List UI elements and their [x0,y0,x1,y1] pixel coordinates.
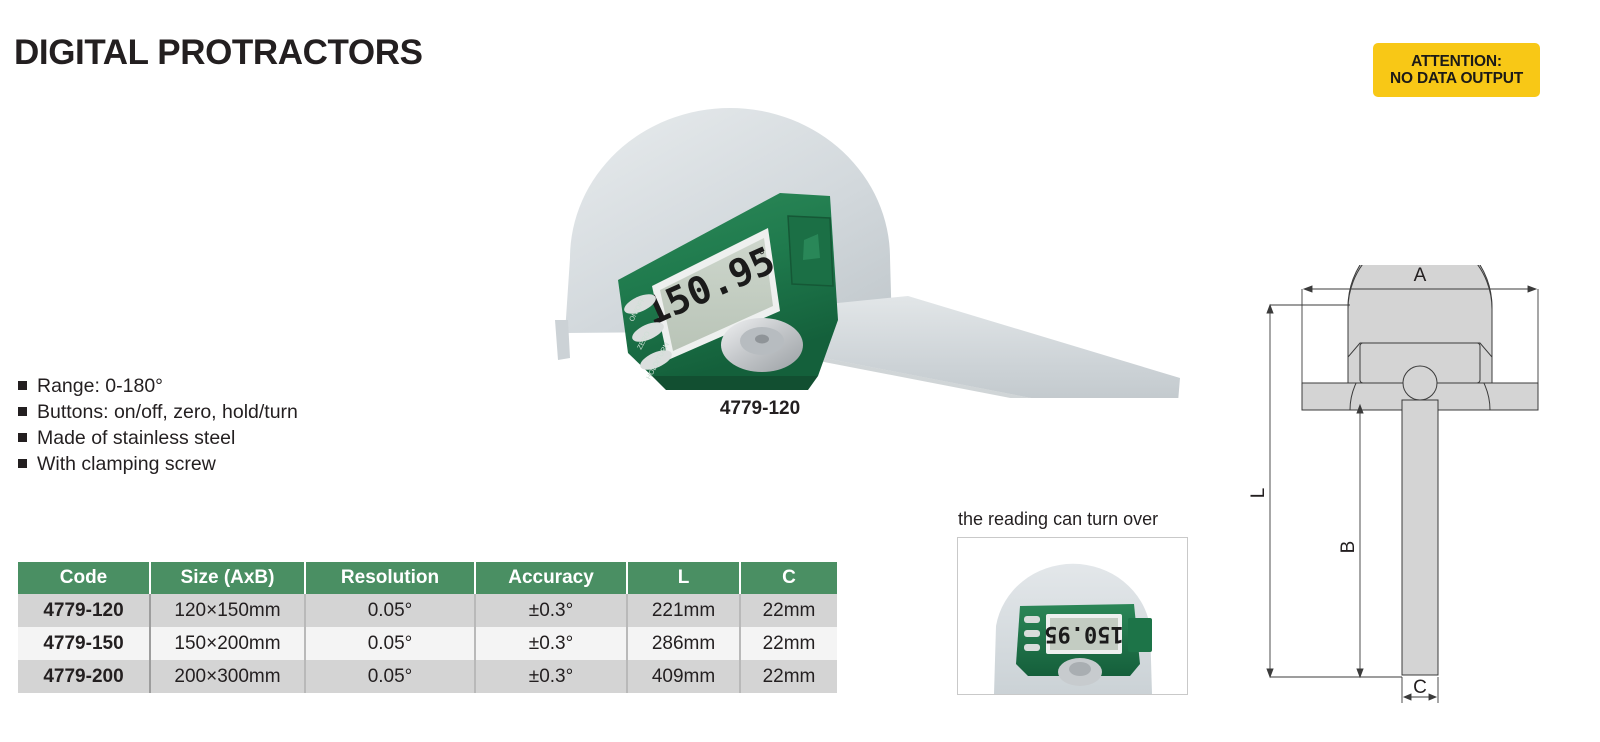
dimension-drawing: A L B C [1250,265,1590,705]
feature-text: Range: 0-180° [37,375,163,398]
column-header-c: C [740,562,837,594]
inset-button-hold-turn[interactable] [1024,644,1040,651]
feature-item: With clamping screw [18,453,448,476]
column-header-l: L [627,562,740,594]
feature-text: Made of stainless steel [37,427,235,450]
attention-badge-line-1: ATTENTION: [1411,53,1502,70]
cell-code: 4779-120 [18,594,150,627]
flipped-reading-illustration: 150.95 [958,538,1187,694]
table-header-row: Code Size (AxB) Resolution Accuracy L C [18,562,837,594]
feature-text: Buttons: on/off, zero, hold/turn [37,401,298,424]
cell-c: 22mm [740,627,837,660]
column-header-accuracy: Accuracy [475,562,627,594]
cell-code: 4779-200 [18,660,150,693]
square-bullet-icon [18,381,27,390]
table-row: 4779-150 150×200mm 0.05° ±0.3° 286mm 22m… [18,627,837,660]
square-bullet-icon [18,459,27,468]
inset-lcd-reading: 150.95 [1044,621,1123,646]
dimension-label-c: C [1413,677,1427,698]
product-caption: 4779-120 [660,398,860,420]
cell-l: 286mm [627,627,740,660]
cell-size: 120×150mm [150,594,305,627]
feature-item: Made of stainless steel [18,427,448,450]
cell-l: 221mm [627,594,740,627]
cell-c: 22mm [740,594,837,627]
square-bullet-icon [18,433,27,442]
cell-accuracy: ±0.3° [475,594,627,627]
dimension-label-l: L [1250,488,1269,499]
specifications-table: Code Size (AxB) Resolution Accuracy L C … [18,562,837,693]
feature-text: With clamping screw [37,453,216,476]
cell-accuracy: ±0.3° [475,660,627,693]
cell-code: 4779-150 [18,627,150,660]
cell-resolution: 0.05° [305,627,475,660]
inset-photo: 150.95 [957,537,1188,695]
cell-size: 150×200mm [150,627,305,660]
cell-c: 22mm [740,660,837,693]
column-header-size: Size (AxB) [150,562,305,594]
head-tab [555,320,570,360]
pivot-circle [1403,366,1437,400]
cell-l: 409mm [627,660,740,693]
inset-battery-cover [1128,618,1152,652]
dimension-label-b: B [1338,541,1359,554]
inset-button-on-off[interactable] [1024,616,1040,623]
inset-clamping-screw-inner [1069,662,1091,676]
dimension-label-a: A [1414,265,1427,286]
feature-item: Range: 0-180° [18,375,448,398]
cell-size: 200×300mm [150,660,305,693]
protractor-illustration: 150.95 ° ON/OFF ZERO HOLD/TURN [500,108,1190,398]
attention-badge: ATTENTION: NO DATA OUTPUT [1373,43,1540,97]
column-header-code: Code [18,562,150,594]
blade-outline [1402,400,1438,675]
clamping-screw-center [755,335,769,344]
table-row: 4779-200 200×300mm 0.05° ±0.3° 409mm 22m… [18,660,837,693]
table-row: 4779-120 120×150mm 0.05° ±0.3° 221mm 22m… [18,594,837,627]
technical-drawing: A L B C [1250,265,1590,705]
feature-item: Buttons: on/off, zero, hold/turn [18,401,448,424]
module-lower-edge [652,376,818,390]
cell-resolution: 0.05° [305,660,475,693]
page-title: DIGITAL PROTRACTORS [14,33,423,73]
square-bullet-icon [18,407,27,416]
attention-badge-line-2: NO DATA OUTPUT [1390,70,1523,87]
cell-resolution: 0.05° [305,594,475,627]
features-list: Range: 0-180° Buttons: on/off, zero, hol… [18,375,448,479]
product-photo: 150.95 ° ON/OFF ZERO HOLD/TURN [500,108,1190,398]
column-header-resolution: Resolution [305,562,475,594]
cell-accuracy: ±0.3° [475,627,627,660]
inset-button-zero[interactable] [1024,630,1040,637]
inset-caption: the reading can turn over [958,509,1158,530]
